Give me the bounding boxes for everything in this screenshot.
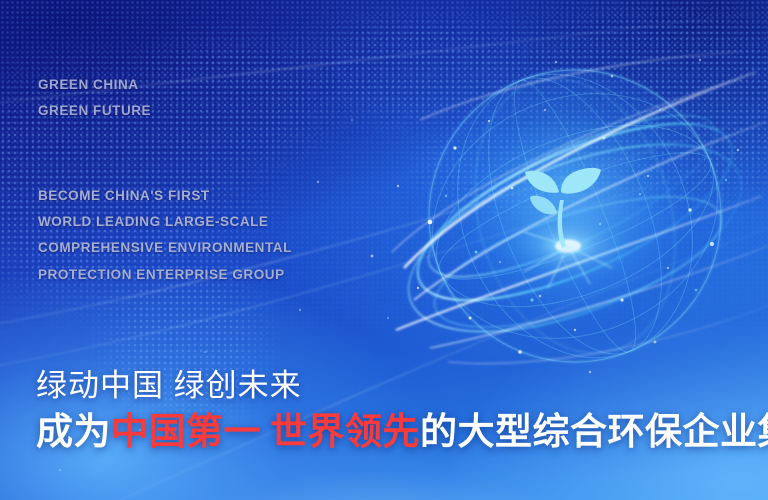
eyebrow-main-line-3: COMPREHENSIVE ENVIRONMENTAL (38, 235, 292, 261)
eyebrow-main-line-4: PROTECTION ENTERPRISE GROUP (38, 262, 292, 288)
headline-line-1: 绿动中国 绿创未来 (36, 366, 768, 406)
eyebrow-top-line-2: GREEN FUTURE (38, 98, 151, 124)
headline-accent-world-leading: 世界领先 (270, 411, 420, 452)
headline-line-2: 成为中国第一世界领先的大型综合环保企业集团 (36, 408, 768, 455)
headline-prefix: 成为 (36, 411, 111, 452)
headline-accent-china-first: 中国第一 (111, 411, 261, 452)
eyebrow-main: BECOME CHINA'S FIRST WORLD LEADING LARGE… (38, 183, 292, 288)
eyebrow-main-line-2: WORLD LEADING LARGE-SCALE (38, 209, 292, 235)
eyebrow-top-line-1: GREEN CHINA (38, 72, 151, 98)
eyebrow-top: GREEN CHINA GREEN FUTURE (38, 72, 151, 124)
text-layer: GREEN CHINA GREEN FUTURE BECOME CHINA'S … (0, 0, 768, 500)
promo-banner: GREEN CHINA GREEN FUTURE BECOME CHINA'S … (0, 0, 768, 500)
headline-suffix: 的大型综合环保企业集团 (420, 411, 768, 452)
eyebrow-main-line-1: BECOME CHINA'S FIRST (38, 183, 292, 209)
headline: 绿动中国 绿创未来 成为中国第一世界领先的大型综合环保企业集团 (36, 366, 768, 455)
